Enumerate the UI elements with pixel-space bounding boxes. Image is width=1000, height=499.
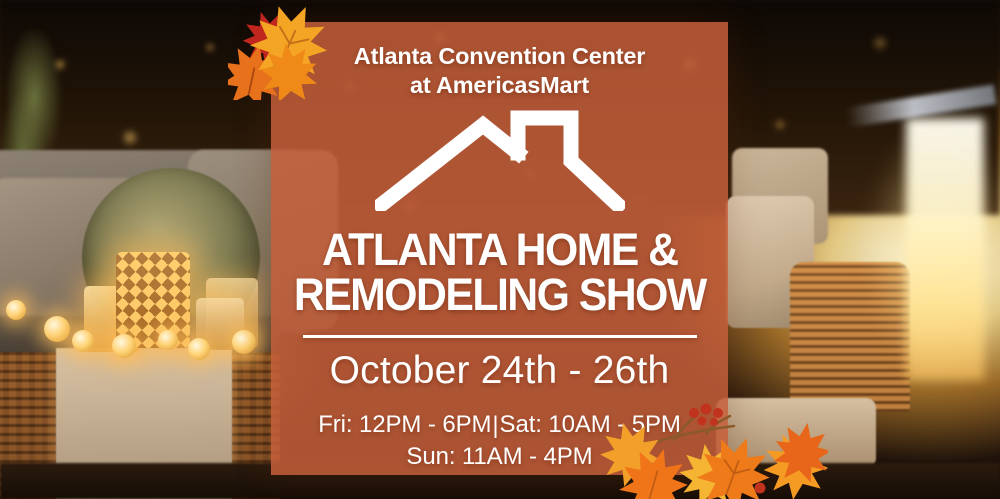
string-light-bulb: [6, 300, 26, 320]
string-light-bulb: [72, 330, 94, 352]
house-roof-chimney-icon: [375, 109, 625, 216]
event-dates: October 24th - 26th: [330, 351, 670, 390]
venue-line-2: at AmericasMart: [300, 71, 700, 100]
string-light-bulb: [112, 334, 136, 358]
event-hours: Fri: 12PM - 6PM|Sat: 10AM - 5PM Sun: 11A…: [318, 409, 681, 471]
show-title: ATLANTA HOME & REMODELING SHOW: [294, 228, 706, 317]
venue-name: Atlanta Convention Center at AmericasMar…: [300, 42, 700, 99]
show-title-line-2: REMODELING SHOW: [294, 273, 706, 318]
hours-saturday: Sat: 10AM - 5PM: [500, 411, 681, 438]
string-light-bulb: [44, 316, 70, 342]
string-light-bulb: [232, 330, 256, 354]
hours-line-2: Sun: 11AM - 4PM: [318, 441, 681, 472]
string-light-bulb: [158, 330, 178, 350]
hours-friday: Fri: 12PM - 6PM: [318, 411, 491, 438]
show-title-line-1: ATLANTA HOME &: [294, 228, 706, 273]
content-panel: Atlanta Convention Center at AmericasMar…: [271, 22, 728, 475]
venue-line-1: Atlanta Convention Center: [300, 42, 700, 71]
string-light-bulb: [188, 338, 210, 360]
hours-separator: |: [492, 410, 498, 441]
divider-rule: [303, 335, 697, 338]
hours-line-1: Fri: 12PM - 6PM|Sat: 10AM - 5PM: [318, 409, 681, 440]
patio-heater-lamp: [906, 118, 984, 380]
promo-banner: Atlanta Convention Center at AmericasMar…: [0, 0, 1000, 499]
